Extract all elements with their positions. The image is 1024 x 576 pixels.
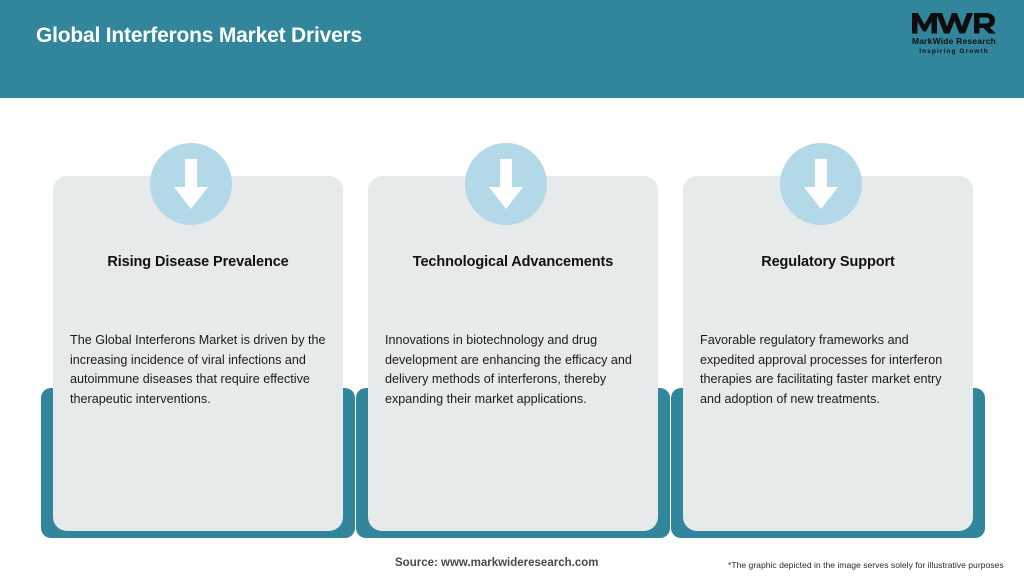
driver-card-3: Regulatory Support Favorable regulatory … bbox=[683, 98, 973, 538]
card-surface: Technological Advancements Innovations i… bbox=[368, 176, 658, 531]
card-body-text: Innovations in biotechnology and drug de… bbox=[385, 331, 641, 409]
card-title: Regulatory Support bbox=[693, 254, 963, 270]
header-bar: Global Interferons Market Drivers MarkWi… bbox=[0, 0, 1024, 98]
down-arrow-icon bbox=[780, 143, 862, 225]
disclaimer-label: *The graphic depicted in the image serve… bbox=[728, 560, 1004, 570]
driver-card-2: Technological Advancements Innovations i… bbox=[368, 98, 658, 538]
down-arrow-glyph bbox=[486, 157, 526, 211]
driver-card-1: Rising Disease Prevalence The Global Int… bbox=[53, 98, 343, 538]
card-surface: Rising Disease Prevalence The Global Int… bbox=[53, 176, 343, 531]
down-arrow-glyph bbox=[171, 157, 211, 211]
down-arrow-icon bbox=[150, 143, 232, 225]
card-surface: Regulatory Support Favorable regulatory … bbox=[683, 176, 973, 531]
card-body-text: The Global Interferons Market is driven … bbox=[70, 331, 326, 409]
drivers-card-group: Rising Disease Prevalence The Global Int… bbox=[0, 98, 1024, 538]
card-body-text: Favorable regulatory frameworks and expe… bbox=[700, 331, 956, 409]
logo-tagline: Inspiring Growth bbox=[902, 47, 1006, 56]
source-label: Source: www.markwideresearch.com bbox=[395, 557, 598, 569]
card-title: Technological Advancements bbox=[378, 254, 648, 270]
card-title: Rising Disease Prevalence bbox=[63, 254, 333, 270]
down-arrow-icon bbox=[465, 143, 547, 225]
logo-company-name: MarkWide Research bbox=[902, 36, 1006, 47]
down-arrow-glyph bbox=[801, 157, 841, 211]
mwr-logo-icon bbox=[911, 10, 997, 36]
brand-logo: MarkWide Research Inspiring Growth bbox=[902, 10, 1006, 62]
page-title: Global Interferons Market Drivers bbox=[36, 24, 362, 48]
